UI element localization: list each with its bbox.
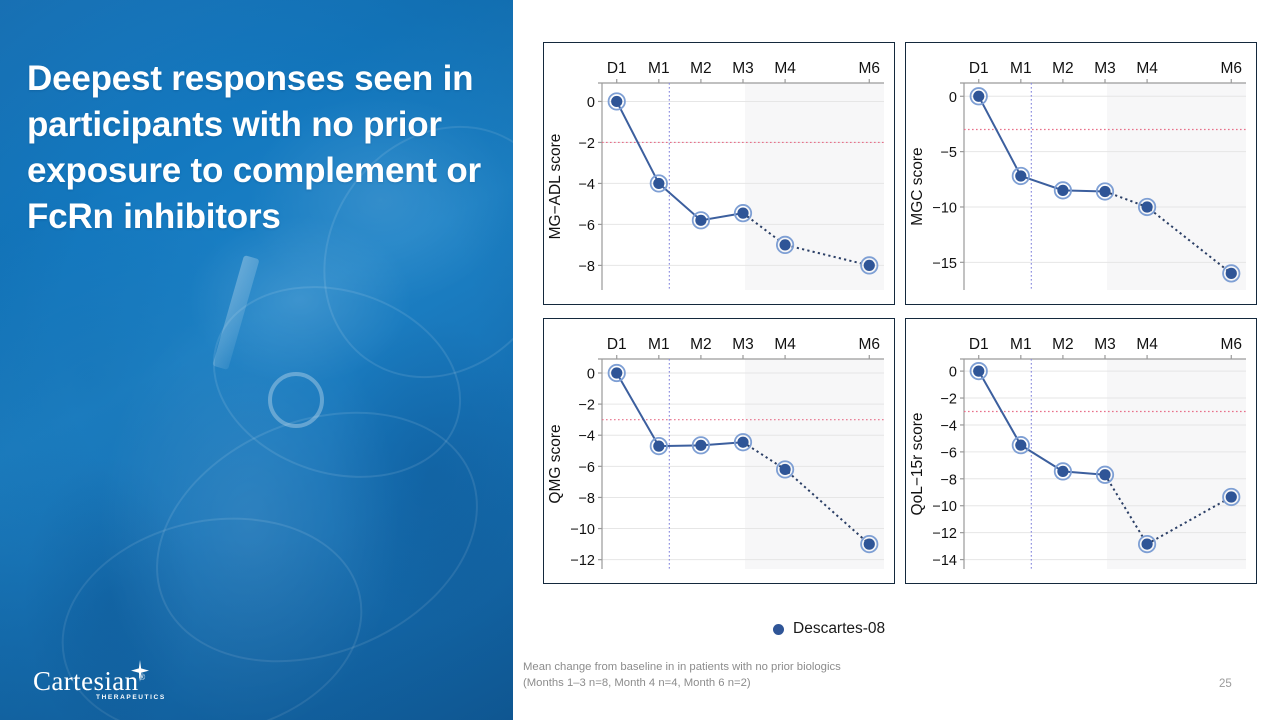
svg-text:M2: M2 [690,60,712,77]
svg-text:M1: M1 [1010,336,1032,353]
svg-text:M4: M4 [774,60,796,77]
svg-text:−8: −8 [940,472,957,488]
svg-text:−4: −4 [940,418,957,434]
svg-text:MGC score: MGC score [909,147,926,225]
svg-text:−5: −5 [940,145,957,161]
page-number: 25 [1219,678,1232,690]
svg-text:−4: −4 [578,429,595,445]
chart-panel-qmg: D1M1M2M3M4M60−2−4−6−8−10−12QMG score [543,318,895,584]
plot-qol15r: D1M1M2M3M4M60−2−4−6−8−10−12−14QoL−15r sc… [906,319,1256,583]
svg-text:−6: −6 [578,218,595,234]
svg-text:MG−ADL score: MG−ADL score [547,134,564,240]
svg-text:−2: −2 [578,398,595,414]
plot-qmg: D1M1M2M3M4M60−2−4−6−8−10−12QMG score [544,319,894,583]
footnote-line-1: Mean change from baseline in in patients… [523,659,993,675]
footnote-line-2: (Months 1–3 n=8, Month 4 n=4, Month 6 n=… [523,675,993,691]
chart-panel-qol15r: D1M1M2M3M4M60−2−4−6−8−10−12−14QoL−15r sc… [905,318,1257,584]
svg-text:−10: −10 [570,522,595,538]
svg-text:M6: M6 [858,60,880,77]
svg-text:M1: M1 [1010,60,1032,77]
svg-text:−10: −10 [932,200,957,216]
svg-text:−8: −8 [578,259,595,275]
svg-text:−8: −8 [578,491,595,507]
chart-panel-mgc: D1M1M2M3M4M60−5−10−15MGC score [905,42,1257,305]
svg-text:0: 0 [949,365,957,381]
svg-text:M4: M4 [1136,336,1158,353]
svg-text:M3: M3 [732,336,754,353]
svg-text:QoL−15r score: QoL−15r score [909,413,926,516]
svg-text:−12: −12 [932,526,957,542]
svg-text:0: 0 [587,95,595,111]
page-title: Deepest responses seen in participants w… [27,56,497,239]
svg-text:0: 0 [587,367,595,383]
footnote: Mean change from baseline in in patients… [523,659,993,692]
svg-text:D1: D1 [969,60,989,77]
svg-text:−2: −2 [578,136,595,152]
logo-tagline: THERAPEUTICS [96,694,166,701]
svg-text:M3: M3 [1094,60,1116,77]
svg-text:D1: D1 [607,336,627,353]
svg-text:M6: M6 [1220,336,1242,353]
svg-text:M2: M2 [1052,336,1074,353]
legend-marker-icon [773,624,784,635]
svg-text:−6: −6 [578,460,595,476]
svg-text:−10: −10 [932,499,957,515]
svg-text:M6: M6 [1220,60,1242,77]
chart-legend: Descartes-08 [773,620,885,638]
cartesian-logo: Cartesian® THERAPEUTICS [33,668,183,710]
svg-text:0: 0 [949,90,957,106]
svg-text:M6: M6 [858,336,880,353]
svg-text:M4: M4 [1136,60,1158,77]
svg-text:−12: −12 [570,553,595,569]
plot-mgc: D1M1M2M3M4M60−5−10−15MGC score [906,43,1256,304]
hero-panel: Deepest responses seen in participants w… [0,0,513,720]
svg-text:M2: M2 [1052,60,1074,77]
chart-panel-mg-adl: D1M1M2M3M4M60−2−4−6−8MG−ADL score [543,42,895,305]
charts-region: D1M1M2M3M4M60−2−4−6−8MG−ADL score D1M1M2… [513,0,1280,720]
svg-text:M4: M4 [774,336,796,353]
svg-text:QMG score: QMG score [547,424,564,503]
svg-text:M3: M3 [1094,336,1116,353]
svg-text:D1: D1 [969,336,989,353]
svg-text:M2: M2 [690,336,712,353]
svg-text:M1: M1 [648,60,670,77]
svg-text:D1: D1 [607,60,627,77]
svg-text:−14: −14 [932,553,957,569]
svg-text:M1: M1 [648,336,670,353]
svg-text:−4: −4 [578,177,595,193]
logo-wordmark: Cartesian® [33,668,146,695]
legend-label: Descartes-08 [793,620,885,638]
svg-text:−6: −6 [940,445,957,461]
plot-mg-adl: D1M1M2M3M4M60−2−4−6−8MG−ADL score [544,43,894,304]
svg-text:M3: M3 [732,60,754,77]
svg-text:−15: −15 [932,256,957,272]
svg-text:−2: −2 [940,392,957,408]
